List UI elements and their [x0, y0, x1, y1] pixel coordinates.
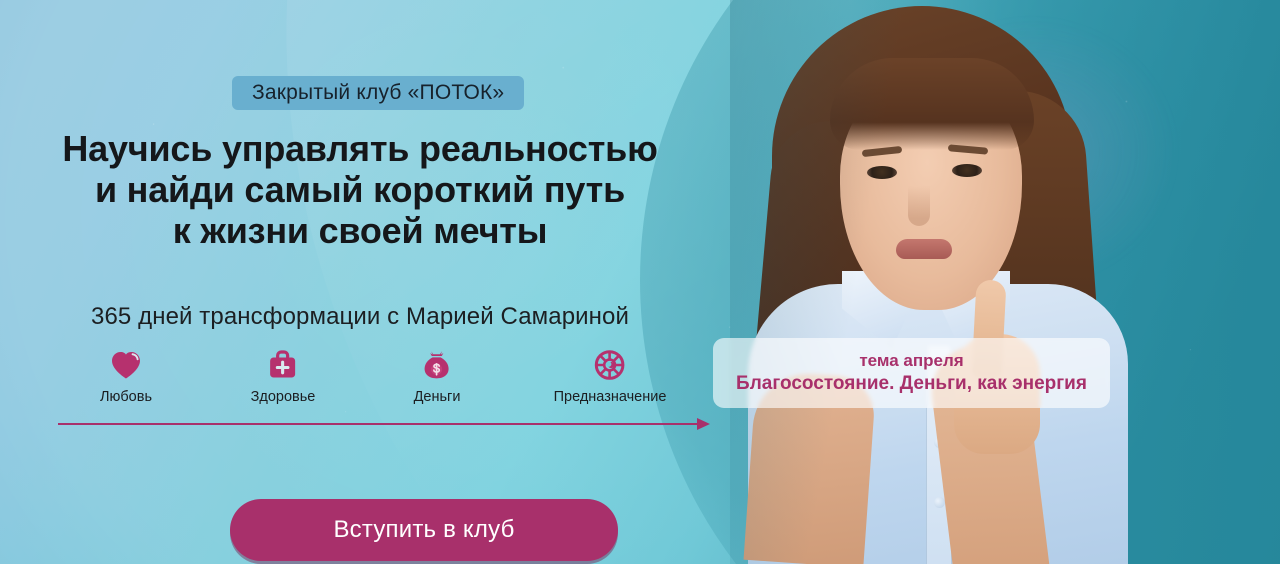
monthly-theme-subtitle: тема апреля — [859, 350, 963, 372]
monthly-theme-title: Благосостояние. Деньги, как энергия — [736, 372, 1087, 396]
photo-shirt-button — [934, 497, 945, 508]
pillar-purpose: Предназначение — [554, 348, 667, 405]
club-badge: Закрытый клуб «ПОТОК» — [232, 76, 524, 110]
pillar-health: Здоровье — [251, 348, 316, 405]
hero-content: Закрытый клуб «ПОТОК» Научись управлять … — [0, 0, 720, 564]
headline-line-1: Научись управлять реальностью — [0, 128, 720, 169]
photo-eye-left — [867, 166, 897, 179]
photo-nose — [908, 186, 930, 226]
pillar-love: Любовь — [100, 348, 152, 405]
photo-lips — [896, 239, 952, 259]
pillars-row: Любовь Здоровье — [58, 348, 718, 418]
join-club-button[interactable]: Вступить в клуб — [230, 499, 618, 561]
pillar-money: Деньги — [414, 348, 461, 405]
page-title: Научись управлять реальностью и найди са… — [0, 128, 720, 251]
pillar-label: Здоровье — [251, 389, 316, 405]
pillar-label: Деньги — [414, 389, 461, 405]
photo-fringe — [830, 58, 1034, 150]
arrow-right-icon — [697, 418, 710, 430]
pillar-label: Любовь — [100, 389, 152, 405]
page-subtitle: 365 дней трансформации с Марией Самарино… — [0, 303, 720, 331]
pillar-label: Предназначение — [554, 389, 667, 405]
headline-line-3: к жизни своей мечты — [0, 210, 720, 251]
photo-eye-right — [952, 164, 982, 177]
first-aid-kit-icon — [251, 348, 316, 382]
presenter-photo — [730, 0, 1150, 564]
club-badge-label: Закрытый клуб «ПОТОК» — [252, 81, 504, 105]
heart-icon — [100, 348, 152, 382]
hero-banner: Закрытый клуб «ПОТОК» Научись управлять … — [0, 0, 1280, 564]
monthly-theme-card: тема апреля Благосостояние. Деньги, как … — [713, 338, 1110, 408]
axis-line — [58, 423, 698, 425]
headline-line-2: и найди самый короткий путь — [0, 169, 720, 210]
progress-axis — [58, 418, 710, 430]
money-bag-icon — [414, 348, 461, 382]
dharma-wheel-icon — [554, 348, 667, 382]
